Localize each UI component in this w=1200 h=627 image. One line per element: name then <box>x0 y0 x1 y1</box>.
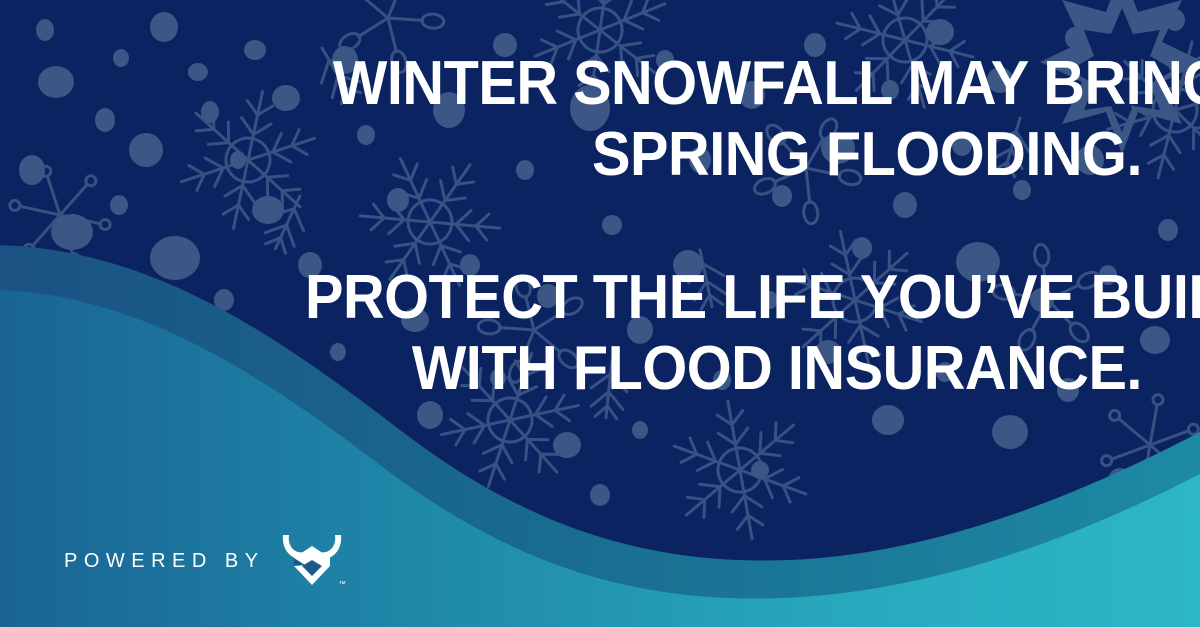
headline: WINTER SNOWFALL MAY BRING SPRING FLOODIN… <box>272 48 1142 190</box>
trademark-symbol: ™ <box>339 581 346 588</box>
powered-by-lockup: POWERED BY ™ <box>64 533 343 589</box>
bull-head-icon: ™ <box>281 533 343 589</box>
subheadline: PROTECT THE LIFE YOU’VE BUILT WITH FLOOD… <box>242 262 1142 404</box>
headline-line-1: WINTER SNOWFALL MAY BRING <box>333 48 1142 119</box>
subheadline-line-1: PROTECT THE LIFE YOU’VE BUILT <box>305 262 1142 333</box>
powered-by-label: POWERED BY <box>64 550 265 573</box>
bull-head-icon-svg <box>281 533 343 589</box>
headline-line-2: SPRING FLOODING. <box>333 119 1142 190</box>
flood-insurance-banner: WINTER SNOWFALL MAY BRING SPRING FLOODIN… <box>0 0 1200 627</box>
subheadline-line-2: WITH FLOOD INSURANCE. <box>305 333 1142 404</box>
